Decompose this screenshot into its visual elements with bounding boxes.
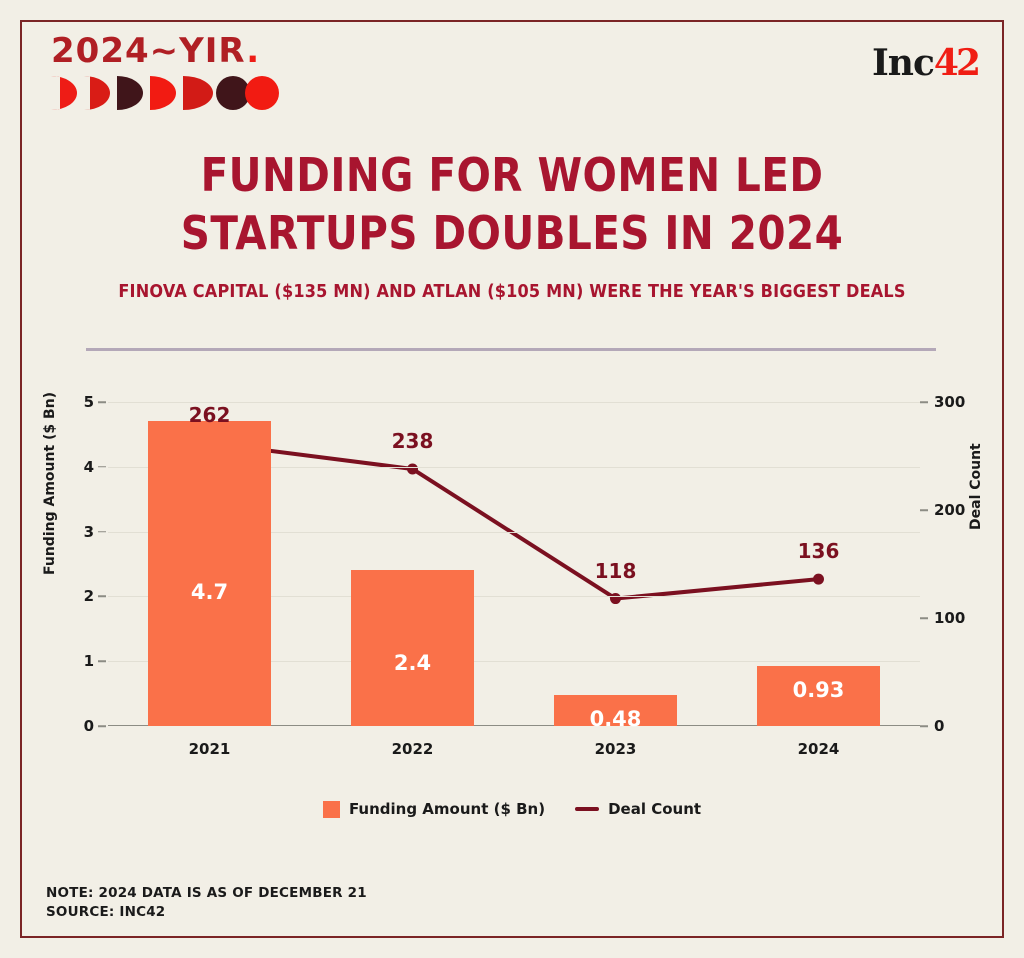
deal-count-label-2021: 262: [189, 403, 231, 427]
y-axis-tick-left: 5: [84, 393, 94, 411]
y-axis-tick-left: 3: [84, 523, 94, 541]
bar-value-label: 0.93: [757, 678, 880, 702]
yir-logo-dot: .: [246, 31, 260, 71]
deal-count-marker-2023[interactable]: [610, 593, 621, 604]
y-axis-tick-right: 100: [934, 609, 965, 627]
y-axis-label-left: Funding Amount ($ Bn): [42, 392, 58, 575]
inc42-logo-accent: 42: [934, 42, 978, 84]
legend-item-funding-amount[interactable]: Funding Amount ($ Bn): [323, 800, 545, 818]
legend-label: Deal Count: [608, 800, 701, 818]
chart-legend: Funding Amount ($ Bn)Deal Count: [0, 800, 1024, 818]
footer-notes: NOTE: 2024 DATA IS AS OF DECEMBER 21 SOU…: [46, 884, 367, 922]
gibbous-red-icon: [183, 76, 213, 110]
y-axis-tick-mark-right: [920, 509, 928, 511]
deal-count-label-2023: 118: [595, 559, 637, 583]
y-axis-label-right: Deal Count: [968, 443, 984, 530]
bar-value-label: 2.4: [351, 651, 474, 675]
header-divider: [86, 348, 936, 351]
deal-count-marker-2022[interactable]: [407, 463, 418, 474]
bar-value-label: 0.48: [554, 707, 677, 731]
x-axis-label-2021: 2021: [189, 740, 231, 758]
bar-2023[interactable]: 0.48: [554, 695, 677, 726]
y-axis-tick-left: 1: [84, 652, 94, 670]
year-in-review-logo: 2024~YIR.: [51, 32, 287, 111]
yir-logo-label: 2024~YIR: [51, 31, 246, 71]
y-axis-tick-right: 0: [934, 717, 944, 735]
legend-line-icon: [575, 807, 599, 811]
y-axis-tick-mark-left: [98, 466, 106, 468]
bar-2022[interactable]: 2.4: [351, 570, 474, 726]
y-axis-tick-left: 2: [84, 587, 94, 605]
page-title-line-1: FUNDING FOR WOMEN LED: [61, 146, 962, 204]
y-axis-tick-right: 300: [934, 393, 965, 411]
inc42-logo: Inc42: [872, 42, 978, 84]
footer-note: NOTE: 2024 DATA IS AS OF DECEMBER 21: [46, 884, 367, 903]
moon-phase-row: [51, 75, 287, 111]
deal-count-marker-2024[interactable]: [813, 574, 824, 585]
y-axis-tick-mark-left: [98, 531, 106, 533]
bar-2021[interactable]: 4.7: [148, 421, 271, 726]
y-axis-tick-mark-left: [98, 660, 106, 662]
y-axis-tick-left: 4: [84, 458, 94, 476]
infographic-page: 2024~YIR. Inc42 FUNDING FOR WOMEN LED ST…: [0, 0, 1024, 958]
full-moon-red-icon: [253, 76, 287, 110]
x-axis-label-2022: 2022: [392, 740, 434, 758]
bar-2024[interactable]: 0.93: [757, 666, 880, 726]
y-axis-tick-mark-right: [920, 725, 928, 727]
x-axis-label-2024: 2024: [798, 740, 840, 758]
legend-swatch-icon: [323, 801, 340, 818]
deal-count-label-2022: 238: [392, 429, 434, 453]
y-axis-tick-left: 0: [84, 717, 94, 735]
y-axis-tick-mark-left: [98, 725, 106, 727]
half-moon-red-icon: [150, 76, 180, 110]
plot-region: 01234501002003004.720212.420220.4820230.…: [108, 402, 920, 726]
y-axis-tick-mark-right: [920, 401, 928, 403]
y-axis-tick-mark-left: [98, 401, 106, 403]
title-block: FUNDING FOR WOMEN LED STARTUPS DOUBLES I…: [0, 146, 1024, 302]
deal-count-label-2024: 136: [798, 539, 840, 563]
y-axis-tick-mark-left: [98, 596, 106, 598]
crescent-red-icon: [84, 76, 114, 110]
page-title-line-2: STARTUPS DOUBLES IN 2024: [61, 204, 962, 262]
yir-logo-text: 2024~YIR.: [51, 32, 287, 70]
page-subtitle: FINOVA CAPITAL ($135 MN) AND ATLAN ($105…: [41, 282, 983, 302]
half-moon-dark-icon: [117, 76, 147, 110]
legend-label: Funding Amount ($ Bn): [349, 800, 545, 818]
y-axis-tick-right: 200: [934, 501, 965, 519]
inc42-logo-dark: Inc: [872, 42, 934, 84]
legend-item-deal-count[interactable]: Deal Count: [575, 800, 701, 818]
y-axis-tick-mark-right: [920, 617, 928, 619]
footer-source: SOURCE: INC42: [46, 903, 367, 922]
crescent-waxing-red-icon: [51, 76, 81, 110]
bar-value-label: 4.7: [148, 580, 271, 604]
chart-area: Funding Amount ($ Bn) Deal Count 0123450…: [0, 380, 1024, 800]
x-axis-label-2023: 2023: [595, 740, 637, 758]
header-bar: 2024~YIR. Inc42: [46, 32, 978, 118]
